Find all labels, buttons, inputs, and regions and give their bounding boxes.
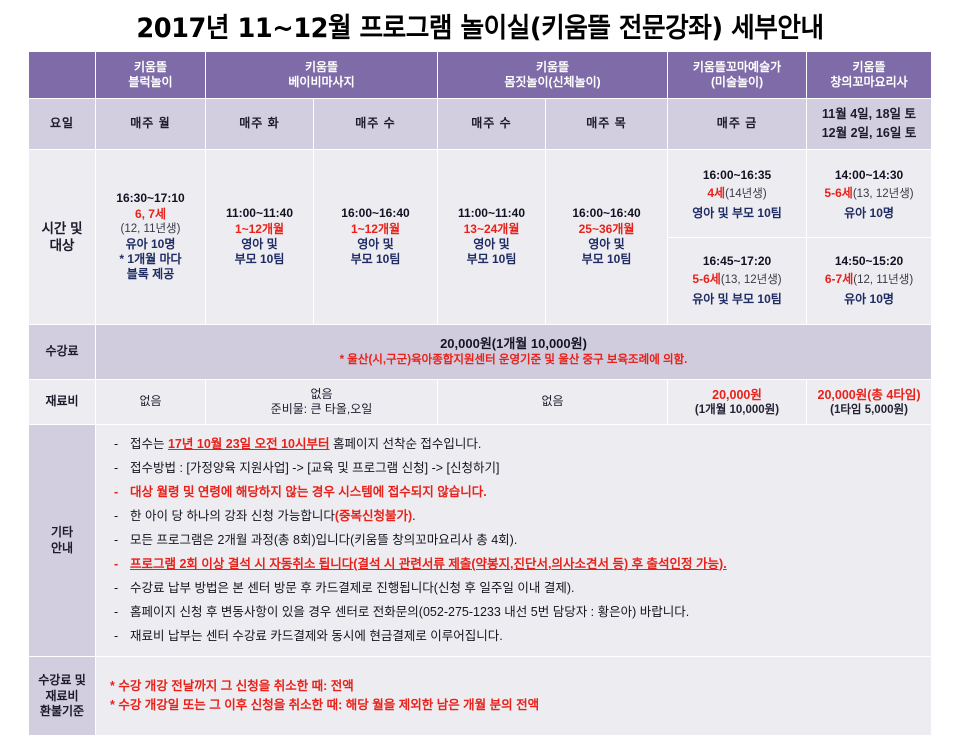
notes-label-line2: 안내 — [51, 541, 73, 555]
notes-item: -홈페이지 신청 후 변동사항이 있을 경우 센터로 전화문의(052-275-… — [114, 601, 925, 625]
tuition-label: 수강료 — [29, 325, 96, 380]
schedule-table: 키움뜰 블럭놀이 키움뜰 베이비마사지 키움뜰 몸짓놀이(신체놀이) 키움뜰꼬마… — [28, 51, 932, 736]
massage-wed-months: 1~12개월 — [316, 222, 435, 237]
massage-tue-months: 1~12개월 — [208, 222, 311, 237]
notes-text-run: 홈페이지 신청 후 변동사항이 있을 경우 센터로 전화문의(052-275-1… — [130, 605, 689, 619]
header-art-line2: (미술놀이) — [711, 75, 763, 89]
header-body-line1: 키움뜰 — [536, 60, 569, 74]
notes-bullet-dash: - — [114, 558, 130, 572]
header-massage-line1: 키움뜰 — [305, 60, 338, 74]
cook1-target: 유아 10명 — [844, 204, 894, 223]
refund-line-1: * 수강 개강 전날까지 그 신청을 취소한 때: 전액 — [110, 677, 925, 696]
cook1-age: 5-6세 — [824, 186, 852, 200]
refund-row: 수강료 및 재료비 환불기준 * 수강 개강 전날까지 그 신청을 취소한 때:… — [29, 657, 932, 736]
notes-item: -재료비 납부는 센터 수강료 카드결제와 동시에 현금결제로 이루어집니다. — [114, 625, 925, 649]
notes-bullet-dash: - — [114, 582, 130, 596]
art2-birth: (13, 12년생) — [721, 274, 782, 286]
header-art-line1: 키움뜰꼬마예술가 — [693, 60, 781, 74]
cook2-age-line: 6-7세(12, 11년생) — [825, 270, 913, 290]
header-program-body: 키움뜰 몸짓놀이(신체놀이) — [438, 52, 668, 99]
massage-tue-target2: 부모 10팀 — [208, 252, 311, 267]
time-cell-block: 16:30~17:10 6, 7세 (12, 11년생) 유아 10명 * 1개… — [96, 150, 206, 325]
notes-item: -한 아이 당 하나의 강좌 신청 가능합니다(중복신청불가). — [114, 505, 925, 529]
cooking-slot-2: 14:50~15:20 6-7세(12, 11년생) 유아 10명 — [807, 238, 931, 323]
massage-tue-target1: 영아 및 — [208, 237, 311, 252]
time-target-row: 시간 및 대상 16:30~17:10 6, 7세 (12, 11년생) 유아 … — [29, 150, 932, 325]
cook2-time: 14:50~15:20 — [835, 252, 903, 271]
block-age: 6, 7세 — [98, 207, 203, 222]
art2-time: 16:45~17:20 — [703, 252, 771, 271]
day-massage-wed: 매주 수 — [314, 99, 438, 150]
material-cooking-main: 20,000원(총 4타임) — [809, 387, 929, 403]
block-note: * 1개월 마다 — [98, 252, 203, 267]
page-title: 2017년 11~12월 프로그램 놀이실(키움뜰 전문강좌) 세부안내 — [24, 6, 936, 45]
header-cooking-line2: 창의꼬마요리사 — [830, 75, 907, 89]
body-wed-months: 13~24개월 — [440, 222, 543, 237]
cook2-birth: (12, 11년생) — [853, 274, 913, 286]
art1-time: 16:00~16:35 — [703, 166, 771, 185]
massage-wed-time: 16:00~16:40 — [316, 206, 435, 221]
notes-item: -접수는 17년 10월 23일 오전 10시부터 홈페이지 선착순 접수입니다… — [114, 433, 925, 457]
notes-row: 기타 안내 -접수는 17년 10월 23일 오전 10시부터 홈페이지 선착순… — [29, 425, 932, 657]
notes-text-run: 한 아이 당 하나의 강좌 신청 가능합니다 — [130, 509, 335, 523]
massage-wed-target2: 부모 10팀 — [316, 252, 435, 267]
notes-item: -수강료 납부 방법은 본 센터 방문 후 카드결제로 진행됩니다(신청 후 일… — [114, 577, 925, 601]
notes-text-run: 모든 프로그램은 2개월 과정(총 8회)입니다(키움뜰 창의꼬마요리사 총 4… — [130, 533, 517, 547]
notes-item: -대상 월령 및 연령에 해당하지 않는 경우 시스템에 접수되지 않습니다. — [114, 481, 925, 505]
art-slot-1: 16:00~16:35 4세(14년생) 영아 및 부모 10팀 — [668, 152, 806, 238]
day-body-wed: 매주 수 — [438, 99, 546, 150]
material-cooking-sub: (1타임 5,000원) — [809, 403, 929, 418]
cook2-age: 6-7세 — [825, 272, 853, 286]
notes-text-run: 재료비 납부는 센터 수강료 카드결제와 동시에 현금결제로 이루어집니다. — [130, 629, 503, 643]
material-massage: 없음 준비물: 큰 타올,오일 — [206, 380, 438, 425]
time-label-line1: 시간 및 — [41, 221, 82, 236]
notes-text-run: 접수는 — [130, 437, 168, 451]
day-body-thu: 매주 목 — [546, 99, 668, 150]
body-wed-target2: 부모 10팀 — [440, 252, 543, 267]
time-cell-massage-tue: 11:00~11:40 1~12개월 영아 및 부모 10팀 — [206, 150, 314, 325]
notes-item: -프로그램 2회 이상 결석 시 자동취소 됩니다(결석 시 관련서류 제출(약… — [114, 553, 925, 577]
material-cooking: 20,000원(총 4타임) (1타임 5,000원) — [807, 380, 932, 425]
material-block: 없음 — [96, 380, 206, 425]
tuition-note: * 울산(시,구군)육아종합지원센터 운영기준 및 울산 중구 보육조례에 의함… — [98, 353, 929, 368]
header-program-block: 키움뜰 블럭놀이 — [96, 52, 206, 99]
block-time: 16:30~17:10 — [98, 191, 203, 206]
notes-label-line1: 기타 — [51, 525, 73, 539]
notes-list: -접수는 17년 10월 23일 오전 10시부터 홈페이지 선착순 접수입니다… — [114, 433, 925, 648]
art1-age: 4세 — [707, 186, 725, 200]
header-corner-cell — [29, 52, 96, 99]
material-massage-line1: 없음 — [208, 387, 435, 402]
day-cooking-line1: 11월 4일, 18일 토 — [822, 107, 916, 121]
schedule-table-wrapper: 키움뜰 블럭놀이 키움뜰 베이비마사지 키움뜰 몸짓놀이(신체놀이) 키움뜰꼬마… — [28, 51, 931, 736]
day-row: 요일 매주 월 매주 화 매주 수 매주 수 매주 목 매주 금 11월 4일,… — [29, 99, 932, 150]
header-body-line2: 몸짓놀이(신체놀이) — [504, 75, 600, 89]
body-thu-target1: 영아 및 — [548, 237, 665, 252]
material-label: 재료비 — [29, 380, 96, 425]
cook1-birth: (13, 12년생) — [853, 188, 914, 200]
header-program-massage: 키움뜰 베이비마사지 — [206, 52, 438, 99]
day-row-label: 요일 — [29, 99, 96, 150]
notes-text-run: 수강료 납부 방법은 본 센터 방문 후 카드결제로 진행됩니다(신청 후 일주… — [130, 581, 574, 595]
art1-target: 영아 및 부모 10팀 — [692, 204, 782, 223]
header-massage-line2: 베이비마사지 — [288, 75, 354, 89]
refund-label-line3: 환불기준 — [40, 704, 84, 718]
notes-label: 기타 안내 — [29, 425, 96, 657]
art2-target: 유아 및 부모 10팀 — [692, 290, 782, 309]
art1-birth: (14년생) — [725, 188, 767, 200]
time-cell-body-thu: 16:00~16:40 25~36개월 영아 및 부모 10팀 — [546, 150, 668, 325]
header-program-cooking: 키움뜰 창의꼬마요리사 — [807, 52, 932, 99]
material-body: 없음 — [438, 380, 668, 425]
notes-item: -접수방법 : [가정양육 지원사업] -> [교육 및 프로그램 신청] ->… — [114, 457, 925, 481]
body-wed-target1: 영아 및 — [440, 237, 543, 252]
header-block-line2: 블럭놀이 — [128, 75, 172, 89]
material-art-sub: (1개월 10,000원) — [670, 403, 804, 418]
block-capacity: 유아 10명 — [98, 237, 203, 252]
cook1-time: 14:00~14:30 — [835, 166, 903, 185]
time-label-line2: 대상 — [50, 238, 75, 253]
notes-bullet-dash: - — [114, 486, 130, 500]
block-birth: (12, 11년생) — [98, 222, 203, 237]
notes-text-run: 대상 월령 및 연령에 해당하지 않는 경우 시스템에 접수되지 않습니다. — [130, 485, 487, 499]
refund-label: 수강료 및 재료비 환불기준 — [29, 657, 96, 736]
notes-text-run: 홈페이지 선착순 접수입니다. — [330, 437, 482, 451]
notes-text-run: 프로그램 2회 이상 결석 시 자동취소 됩니다(결석 시 관련서류 제출(약봉… — [130, 557, 727, 571]
notes-content: -접수는 17년 10월 23일 오전 10시부터 홈페이지 선착순 접수입니다… — [96, 425, 932, 657]
time-cell-art: 16:00~16:35 4세(14년생) 영아 및 부모 10팀 16:45~1… — [668, 150, 807, 325]
massage-wed-target1: 영아 및 — [316, 237, 435, 252]
time-row-label: 시간 및 대상 — [29, 150, 96, 325]
notes-bullet-dash: - — [114, 534, 130, 548]
notes-bullet-dash: - — [114, 510, 130, 524]
material-art: 20,000원 (1개월 10,000원) — [668, 380, 807, 425]
notes-text-run: 17년 10월 23일 오전 10시부터 — [168, 437, 330, 451]
refund-line-2: * 수강 개강일 또는 그 이후 신청을 취소한 때: 해당 월을 제외한 남은… — [110, 696, 925, 715]
block-note2: 블록 제공 — [98, 267, 203, 282]
cook2-target: 유아 10명 — [844, 290, 894, 309]
notes-text-run: (중복신청불가) — [335, 509, 412, 523]
notes-text-run: . — [412, 509, 415, 523]
day-block: 매주 월 — [96, 99, 206, 150]
cooking-slot-1: 14:00~14:30 5-6세(13, 12년생) 유아 10명 — [807, 152, 931, 238]
tuition-amount: 20,000원(1개월 10,000원) — [98, 336, 929, 353]
day-massage-tue: 매주 화 — [206, 99, 314, 150]
day-cooking: 11월 4일, 18일 토 12월 2일, 16일 토 — [807, 99, 932, 150]
time-cell-massage-wed: 16:00~16:40 1~12개월 영아 및 부모 10팀 — [314, 150, 438, 325]
notes-item: -모든 프로그램은 2개월 과정(총 8회)입니다(키움뜰 창의꼬마요리사 총 … — [114, 529, 925, 553]
cook1-age-line: 5-6세(13, 12년생) — [824, 184, 913, 204]
body-thu-time: 16:00~16:40 — [548, 206, 665, 221]
notes-text-run: 접수방법 : [가정양육 지원사업] -> [교육 및 프로그램 신청] -> … — [130, 461, 499, 475]
time-cell-body-wed: 11:00~11:40 13~24개월 영아 및 부모 10팀 — [438, 150, 546, 325]
day-art: 매주 금 — [668, 99, 807, 150]
art-slot-2: 16:45~17:20 5-6세(13, 12년생) 유아 및 부모 10팀 — [668, 238, 806, 323]
header-block-line1: 키움뜰 — [134, 60, 167, 74]
schedule-page: 2017년 11~12월 프로그램 놀이실(키움뜰 전문강좌) 세부안내 키움뜰… — [0, 0, 960, 720]
notes-bullet-dash: - — [114, 606, 130, 620]
notes-bullet-dash: - — [114, 462, 130, 476]
tuition-value-cell: 20,000원(1개월 10,000원) * 울산(시,구군)육아종합지원센터 … — [96, 325, 932, 380]
day-cooking-line2: 12월 2일, 16일 토 — [822, 126, 917, 140]
table-header-row: 키움뜰 블럭놀이 키움뜰 베이비마사지 키움뜰 몸짓놀이(신체놀이) 키움뜰꼬마… — [29, 52, 932, 99]
art2-age-line: 5-6세(13, 12년생) — [692, 270, 781, 290]
material-massage-line2: 준비물: 큰 타올,오일 — [208, 402, 435, 417]
refund-label-line2: 재료비 — [45, 689, 78, 703]
body-thu-target2: 부모 10팀 — [548, 252, 665, 267]
body-wed-time: 11:00~11:40 — [440, 206, 543, 221]
refund-label-line1: 수강료 및 — [38, 673, 86, 687]
massage-tue-time: 11:00~11:40 — [208, 206, 311, 221]
header-cooking-line1: 키움뜰 — [852, 60, 885, 74]
time-cell-cooking: 14:00~14:30 5-6세(13, 12년생) 유아 10명 14:50~… — [807, 150, 932, 325]
refund-content: * 수강 개강 전날까지 그 신청을 취소한 때: 전액 * 수강 개강일 또는… — [96, 657, 932, 736]
art2-age: 5-6세 — [692, 272, 720, 286]
material-art-main: 20,000원 — [670, 387, 804, 403]
tuition-row: 수강료 20,000원(1개월 10,000원) * 울산(시,구군)육아종합지… — [29, 325, 932, 380]
material-fee-row: 재료비 없음 없음 준비물: 큰 타올,오일 없음 20,000원 (1개월 1… — [29, 380, 932, 425]
notes-bullet-dash: - — [114, 438, 130, 452]
art1-age-line: 4세(14년생) — [707, 184, 766, 204]
notes-bullet-dash: - — [114, 630, 130, 644]
header-program-art: 키움뜰꼬마예술가 (미술놀이) — [668, 52, 807, 99]
body-thu-months: 25~36개월 — [548, 222, 665, 237]
